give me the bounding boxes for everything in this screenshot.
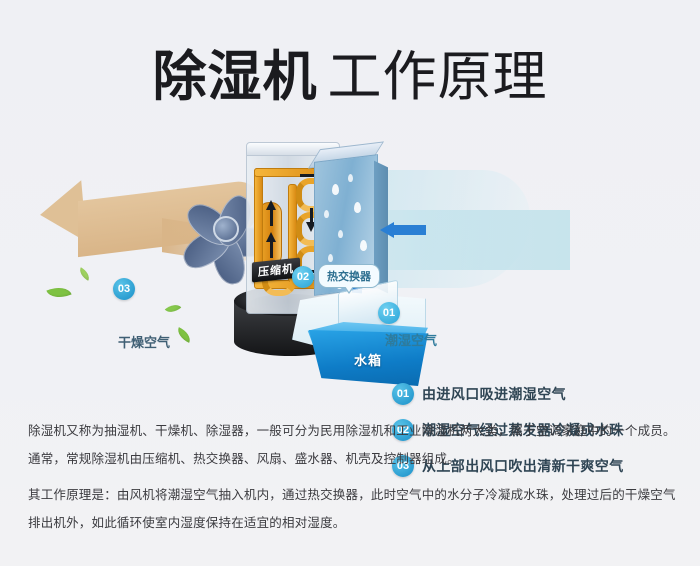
page-title-secondary: 工作原理: [328, 45, 548, 108]
callout-badge-01: 01: [378, 302, 400, 324]
paragraph-1-line-1: 除湿机又称为抽湿机、干燥机、除湿器，一般可分为民用除湿机和工业除湿机两大类，属于…: [28, 420, 676, 442]
leaf-icon: [175, 327, 194, 343]
leaf-icon: [165, 301, 182, 317]
callout-label-humid-air: 潮湿空气: [385, 330, 437, 349]
legend-text-01: 由进风口吸进潮湿空气: [422, 384, 566, 404]
callout-label-heat-exchanger: 热交换器: [318, 264, 380, 288]
intake-air-arrow: [380, 222, 426, 238]
legend-badge-01: 01: [392, 383, 414, 405]
callout-badge-02: 02: [292, 266, 314, 288]
paragraph-1-line-2: 通常，常规除湿机由压缩机、热交换器、风扇、盛水器、机壳及控制器组成。: [28, 448, 676, 470]
page-title-primary: 除湿机: [153, 45, 318, 108]
infographic-page: 除湿机工作原理: [0, 0, 700, 566]
callout-badge-03: 03: [113, 278, 135, 300]
legend-item: 01 由进风口吸进潮湿空气: [392, 376, 692, 412]
paragraph-2-line-2: 排出机外，如此循环使室内湿度保持在适宜的相对湿度。: [28, 512, 676, 534]
paragraph-2-line-1: 其工作原理是：由风机将潮湿空气抽入机内，通过热交换器，此时空气中的水分子冷凝成水…: [28, 484, 676, 506]
callout-label-dry-air: 干燥空气: [118, 332, 170, 351]
body-copy: 除湿机又称为抽湿机、干燥机、除湿器，一般可分为民用除湿机和工业除湿机两大类，属于…: [28, 420, 676, 540]
water-tank-label: 水箱: [354, 350, 382, 369]
page-title: 除湿机工作原理: [0, 32, 700, 111]
leaf-icon: [46, 282, 71, 302]
dehumidifier-illustration: 水箱 压缩机 03 干燥空气 02 热交换器 01 潮湿空气 01 由进风口吸进…: [0, 118, 700, 393]
